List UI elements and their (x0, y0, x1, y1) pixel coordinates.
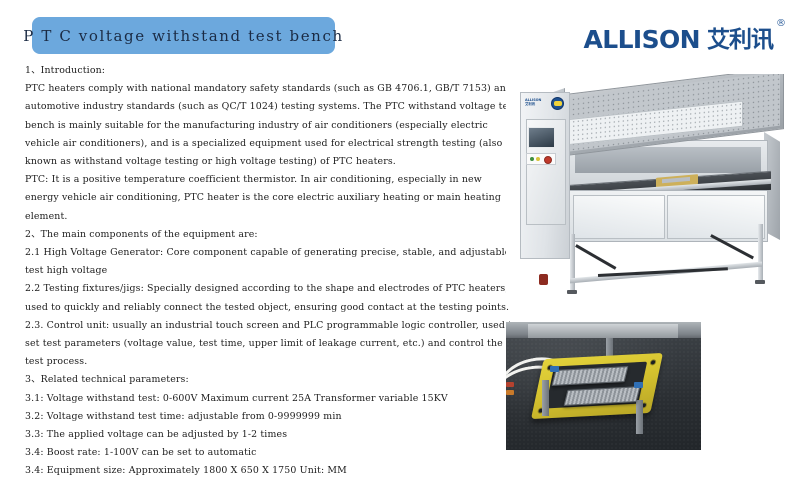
brand-logo-latin: ALLISON (584, 27, 701, 52)
body-line: 3.4: Equipment size: Approximately 1800 … (25, 462, 493, 480)
body-line: 3.3: The applied voltage can be adjusted… (25, 426, 493, 444)
cabinet-door-right (667, 195, 765, 239)
product-photo-testing-fixture (506, 322, 701, 450)
machine-leveling-foot (567, 290, 577, 294)
machine-control-panel: ALLISON 艾利讯 (520, 92, 570, 259)
body-line: element. (25, 208, 493, 226)
body-line: 3.1: Voltage withstand test: 0-600V Maxi… (25, 390, 493, 408)
body-line: 3.4: Boost rate: 1-100V can be set to au… (25, 444, 493, 462)
body-line: test high voltage (25, 262, 493, 280)
body-line: 2、The main components of the equipment a… (25, 226, 493, 244)
machine-frame-leg (758, 224, 763, 282)
body-line: set test parameters (voltage value, test… (25, 335, 493, 353)
cabinet-door-left (573, 195, 665, 239)
control-button-strip (526, 153, 556, 165)
body-line: bench is mainly suitable for the manufac… (25, 117, 493, 135)
brand-logo: ALLISON 艾利讯 ® (584, 22, 787, 52)
fixture-support-post (636, 400, 643, 434)
body-line: 3.2: Voltage withstand test time: adjust… (25, 408, 493, 426)
body-line: used to quickly and reliably connect the… (25, 299, 493, 317)
body-line: known as withstand voltage testing or hi… (25, 153, 493, 171)
fixture-support-post (542, 380, 549, 416)
control-panel-logo-cjk: 艾利讯 (525, 102, 541, 106)
body-line: vehicle air conditioners), and is a spec… (25, 135, 493, 153)
body-line: test process. (25, 353, 493, 371)
indicator-lamp-icon (536, 157, 540, 161)
page-title-badge: P T C voltage withstand test bench (32, 17, 335, 54)
certification-badge-icon (551, 97, 564, 110)
touch-screen-display (528, 127, 555, 148)
fixture-yellow-plate (531, 353, 663, 419)
fixture-terminal-connector (506, 390, 514, 395)
machine-leveling-foot (755, 280, 765, 284)
fixture-terminal-connector (550, 366, 559, 372)
body-line: 2.1 High Voltage Generator: Core compone… (25, 244, 493, 262)
document-body: 1、Introduction: PTC heaters comply with … (25, 62, 493, 481)
body-line: 1、Introduction: (25, 62, 493, 80)
page-title: P T C voltage withstand test bench (23, 27, 343, 45)
fixture-terminal-connector (634, 382, 643, 388)
document-page: P T C voltage withstand test bench ALLIS… (0, 0, 800, 450)
start-button-icon (530, 157, 534, 161)
emergency-stop-button-icon (544, 156, 552, 164)
body-line: 3、Related technical parameters: (25, 371, 493, 389)
fixture-mounting-hole (649, 359, 656, 365)
registered-trademark-icon: ® (776, 18, 786, 29)
product-photo-test-bench: ALLISON 艾利讯 (506, 74, 787, 304)
fixture-terminal-connector (506, 382, 514, 387)
machine-diagonal-brace (575, 244, 616, 269)
body-line: 2.3. Control unit: usually an industrial… (25, 317, 493, 335)
body-line: PTC: It is a positive temperature coeffi… (25, 171, 493, 189)
control-panel-logo: ALLISON 艾利讯 (525, 98, 541, 107)
body-line: 2.2 Testing fixtures/jigs: Specially des… (25, 280, 493, 298)
body-line: automotive industry standards (such as Q… (25, 98, 493, 116)
body-line: energy vehicle air conditioning, PTC hea… (25, 189, 493, 207)
body-line: PTC heaters comply with national mandato… (25, 80, 493, 98)
machine-lower-cabinet (568, 190, 768, 242)
brand-logo-cjk: 艾利讯 (707, 29, 773, 52)
machine-caster-wheel (539, 274, 548, 285)
